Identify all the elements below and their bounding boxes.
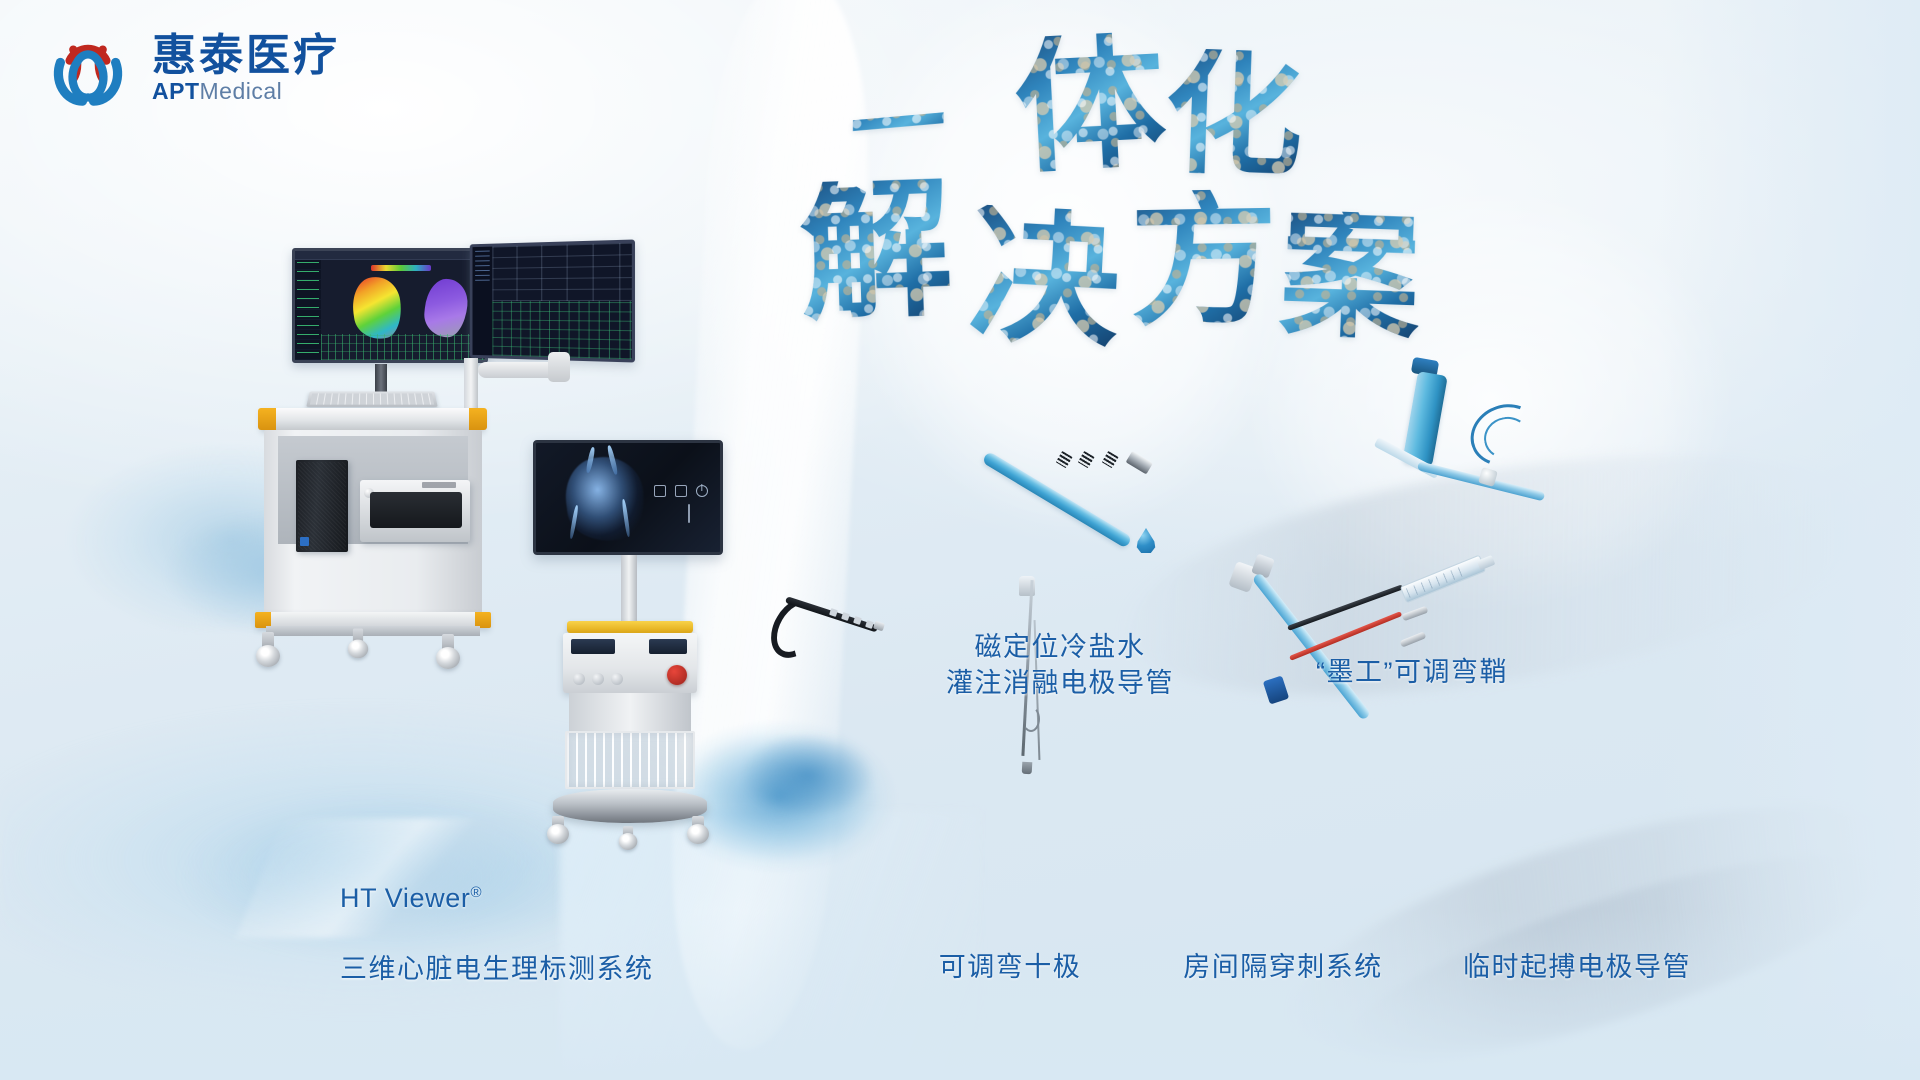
brand-wordmark: 惠泰医疗 APTMedical bbox=[152, 34, 340, 103]
ecg-channel-list bbox=[472, 247, 492, 356]
main-mapping-monitor bbox=[292, 248, 488, 363]
rf-button-row[interactable] bbox=[573, 673, 623, 685]
inflation-syringe bbox=[1400, 555, 1486, 604]
headline-char-3: 化 bbox=[1163, 48, 1305, 180]
monitor-icon-row[interactable] bbox=[654, 485, 708, 497]
electrode-band bbox=[1102, 451, 1119, 468]
cart2-base bbox=[553, 789, 707, 823]
magnetic-irrigated-ablation-catheter bbox=[985, 440, 1175, 570]
apt-medical-interlocking-arcs-logo bbox=[42, 22, 134, 114]
caption-steerable-sheath: “墨工”可调弯鞘 bbox=[1316, 655, 1508, 691]
steerable-decapolar-catheter bbox=[770, 590, 880, 680]
colorbar-legend bbox=[371, 265, 431, 271]
headline-char-4: 解 bbox=[798, 177, 955, 322]
cart2-caster-wheel bbox=[687, 816, 709, 846]
brand-name-en: APTMedical bbox=[152, 80, 340, 103]
electrode-band bbox=[1078, 451, 1095, 468]
cart2-caster-wheel bbox=[547, 816, 569, 846]
headline-char-6: 方 bbox=[1129, 189, 1279, 328]
headline-calligraphy: 一 体 化 解 决 方 案 bbox=[960, 40, 1660, 340]
pacing-pin-connector bbox=[1400, 631, 1427, 647]
pacing-blue-plug bbox=[1263, 675, 1289, 704]
headline-char-5: 决 bbox=[966, 204, 1123, 350]
headline-char-2: 体 bbox=[1011, 30, 1168, 176]
edge-vignette-bottom bbox=[0, 910, 1920, 1080]
brand-logo[interactable]: 惠泰医疗 APTMedical bbox=[42, 22, 340, 114]
layout-icon[interactable] bbox=[654, 485, 666, 497]
caption-decapolar: 可调弯十极 bbox=[939, 950, 1082, 986]
caption-pacing-catheter: 临时起搏电极导管 bbox=[1463, 950, 1691, 986]
list-icon[interactable] bbox=[675, 485, 687, 497]
cart-keyboard[interactable] bbox=[306, 392, 437, 407]
caption-transseptal: 房间隔穿刺系统 bbox=[1183, 950, 1383, 986]
workstation-pc-tower bbox=[296, 460, 348, 552]
cart-caster-wheel bbox=[256, 632, 280, 666]
cart-worktop bbox=[260, 408, 485, 430]
headline-char-7: 案 bbox=[1278, 210, 1422, 344]
poster-canvas: 惠泰医疗 APTMedical 一 体 化 解 决 方 案 bbox=[0, 0, 1920, 1080]
cart-cabinet bbox=[264, 430, 482, 622]
caption-ablation-catheter: 磁定位冷盐水 灌注消融电极导管 bbox=[946, 630, 1174, 701]
chamber-map-voltage bbox=[422, 277, 470, 339]
cart2-column bbox=[569, 693, 691, 731]
ecg-grid-area bbox=[492, 301, 631, 359]
cart-caster-wheel bbox=[436, 634, 460, 668]
heart-3d-render bbox=[561, 453, 649, 546]
power-icon[interactable] bbox=[696, 485, 708, 497]
ablation-tip bbox=[1126, 451, 1153, 475]
rf-ablation-dial[interactable] bbox=[667, 665, 687, 685]
brand-name-en-bold: APT bbox=[152, 78, 200, 104]
monitor-signal-strip bbox=[295, 260, 321, 360]
rf-power-display bbox=[571, 639, 615, 654]
secondary-ecg-monitor bbox=[470, 239, 635, 362]
brand-name-cn: 惠泰医疗 bbox=[152, 34, 340, 78]
monitor-ecg-grid bbox=[321, 334, 485, 360]
caption-ht-viewer: HT Viewer® 三维心脏电生理标测系统 bbox=[340, 845, 654, 1023]
needle-tip bbox=[1022, 762, 1033, 775]
cart-bumper-right bbox=[469, 408, 487, 430]
ink-stroke-grey-c bbox=[1325, 816, 1895, 1080]
pacing-lead-wire-black bbox=[1287, 584, 1403, 630]
printer-brand-mark bbox=[422, 482, 456, 488]
rf-generator-control-panel[interactable] bbox=[563, 633, 697, 693]
chamber-map-activation bbox=[349, 274, 405, 342]
settings-icon[interactable] bbox=[688, 504, 690, 523]
needle-curve bbox=[1022, 706, 1040, 732]
monitor-articulating-arm[interactable] bbox=[478, 362, 564, 378]
display-column bbox=[621, 555, 637, 621]
trademark-symbol: ® bbox=[470, 884, 482, 901]
monitor-icon-row-secondary[interactable] bbox=[688, 505, 690, 523]
ink-stroke-grey-b bbox=[1268, 755, 1920, 1080]
ht-viewer-name: HT Viewer bbox=[340, 883, 470, 913]
cart-caster-wheel bbox=[348, 629, 368, 658]
saline-droplet bbox=[1135, 528, 1157, 554]
printer-paper-tray bbox=[370, 492, 462, 528]
product-name-cn: 三维心脏电生理标测系统 bbox=[340, 952, 654, 988]
edge-vignette-right bbox=[1660, 0, 1920, 1080]
brand-name-en-light: Medical bbox=[200, 78, 283, 104]
cart2-yellow-worktop bbox=[567, 621, 693, 633]
heart-display-monitor bbox=[533, 440, 723, 555]
steerable-introducer-sheath bbox=[1350, 365, 1570, 525]
rf-generator-cart[interactable] bbox=[525, 440, 745, 860]
monitor-toolbar bbox=[295, 251, 485, 260]
product-name-en: HT Viewer® bbox=[340, 881, 654, 917]
ecg-waveform-area bbox=[492, 243, 631, 301]
report-printer bbox=[360, 480, 470, 542]
electrode-band bbox=[1056, 451, 1073, 468]
cart2-storage-basket bbox=[565, 731, 695, 789]
rf-temp-display bbox=[649, 639, 687, 654]
pacing-pin-connector bbox=[1402, 606, 1429, 621]
cart-bumper-left bbox=[258, 408, 276, 430]
